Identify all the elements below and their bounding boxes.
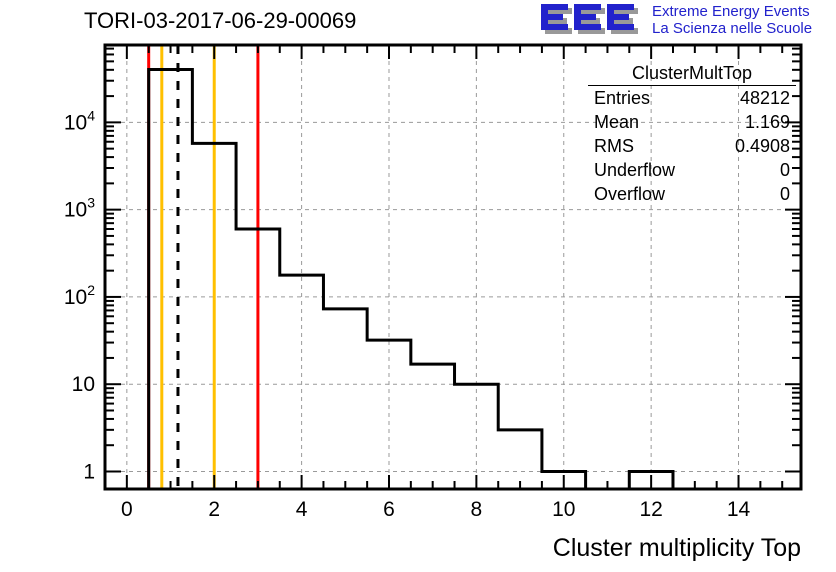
stats-row-value: 0 (780, 159, 790, 181)
stats-row: RMS0.4908 (588, 134, 796, 158)
x-tick-label: 2 (208, 498, 220, 521)
stats-row-label: Overflow (594, 183, 665, 205)
x-tick-label: 4 (296, 498, 308, 521)
stats-row-label: RMS (594, 135, 634, 157)
stats-row-label: Entries (594, 87, 650, 109)
stats-row-label: Underflow (594, 159, 675, 181)
x-tick-label: 14 (727, 498, 751, 521)
y-tick-label: 1 (83, 460, 95, 483)
y-axis-labels: 110102103104 (64, 107, 95, 483)
stats-row-value: 1.169 (745, 111, 790, 133)
y-tick-label: 104 (64, 107, 95, 134)
y-tick-label: 10 (72, 373, 95, 396)
stats-rows: Entries48212Mean1.169RMS0.4908Underflow0… (588, 86, 796, 206)
stats-row-value: 0.4908 (735, 135, 790, 157)
stats-row: Entries48212 (588, 86, 796, 110)
y-tick-label: 103 (64, 195, 95, 222)
stats-row: Underflow0 (588, 158, 796, 182)
histogram-page: TORI-03-2017-06-29-00069 (0, 0, 836, 572)
x-tick-label: 10 (552, 498, 575, 521)
stats-row-value: 0 (780, 183, 790, 205)
y-tick-label: 102 (64, 282, 95, 309)
x-tick-label: 0 (121, 498, 133, 521)
x-axis-labels: 02468101214 (121, 498, 751, 521)
stats-title: ClusterMultTop (588, 63, 796, 86)
x-tick-label: 8 (471, 498, 483, 521)
stats-row: Overflow0 (588, 182, 796, 206)
marker-lines (149, 45, 258, 489)
x-tick-label: 6 (383, 498, 395, 521)
stats-row: Mean1.169 (588, 110, 796, 134)
x-axis-title: Cluster multiplicity Top (553, 534, 801, 562)
x-tick-label: 12 (639, 498, 662, 521)
stats-row-value: 48212 (740, 87, 790, 109)
stats-row-label: Mean (594, 111, 639, 133)
stats-box: ClusterMultTop Entries48212Mean1.169RMS0… (588, 63, 796, 206)
